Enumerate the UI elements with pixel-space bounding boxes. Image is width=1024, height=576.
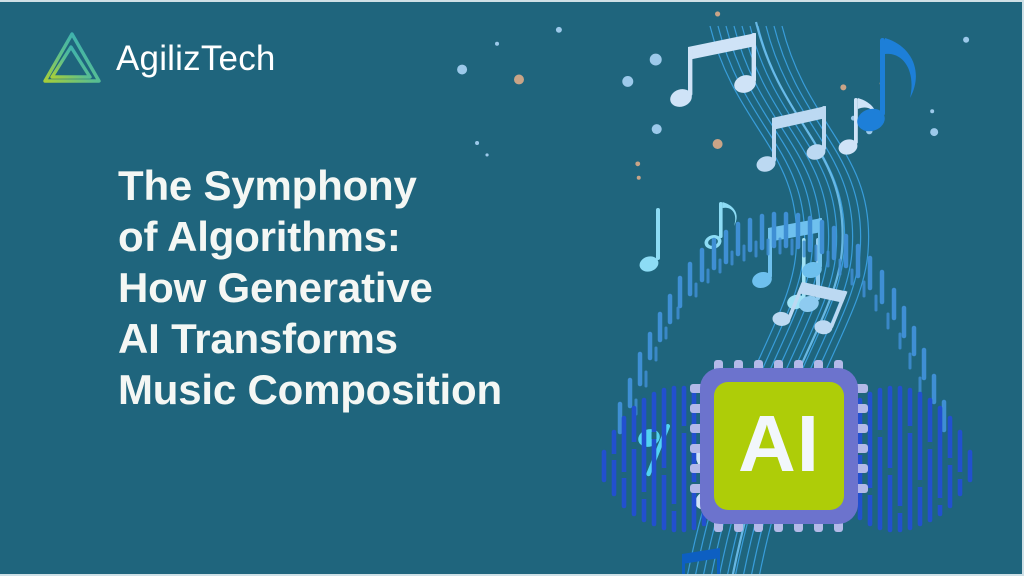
headline-line-5: Music Composition	[118, 364, 558, 415]
headline-line-3: How Generative	[118, 262, 558, 313]
music-note-beamed-dark	[670, 548, 722, 576]
page-title: The Symphony of Algorithms: How Generati…	[118, 160, 558, 415]
ai-chip-label: AI	[738, 399, 820, 488]
triangle-outline-logo-icon	[42, 30, 102, 86]
music-note-beamed-pale	[668, 33, 758, 109]
music-note-eighth-blue	[854, 38, 915, 135]
music-note-quarter-cyan-a	[638, 208, 661, 274]
headline-line-4: AI Transforms	[118, 313, 558, 364]
ai-chip-graphic: AI	[690, 360, 868, 532]
hero-illustration: AI	[560, 2, 1024, 576]
headline-line-2: of Algorithms:	[118, 211, 558, 262]
brand-logo-lockup[interactable]: AgilizTech	[42, 30, 276, 86]
music-note-eighth-cyan-flag	[703, 202, 737, 251]
blog-banner-card: AgilizTech The Symphony of Algorithms: H…	[0, 0, 1024, 576]
headline-line-1: The Symphony	[118, 160, 558, 211]
brand-wordmark: AgilizTech	[116, 41, 276, 76]
